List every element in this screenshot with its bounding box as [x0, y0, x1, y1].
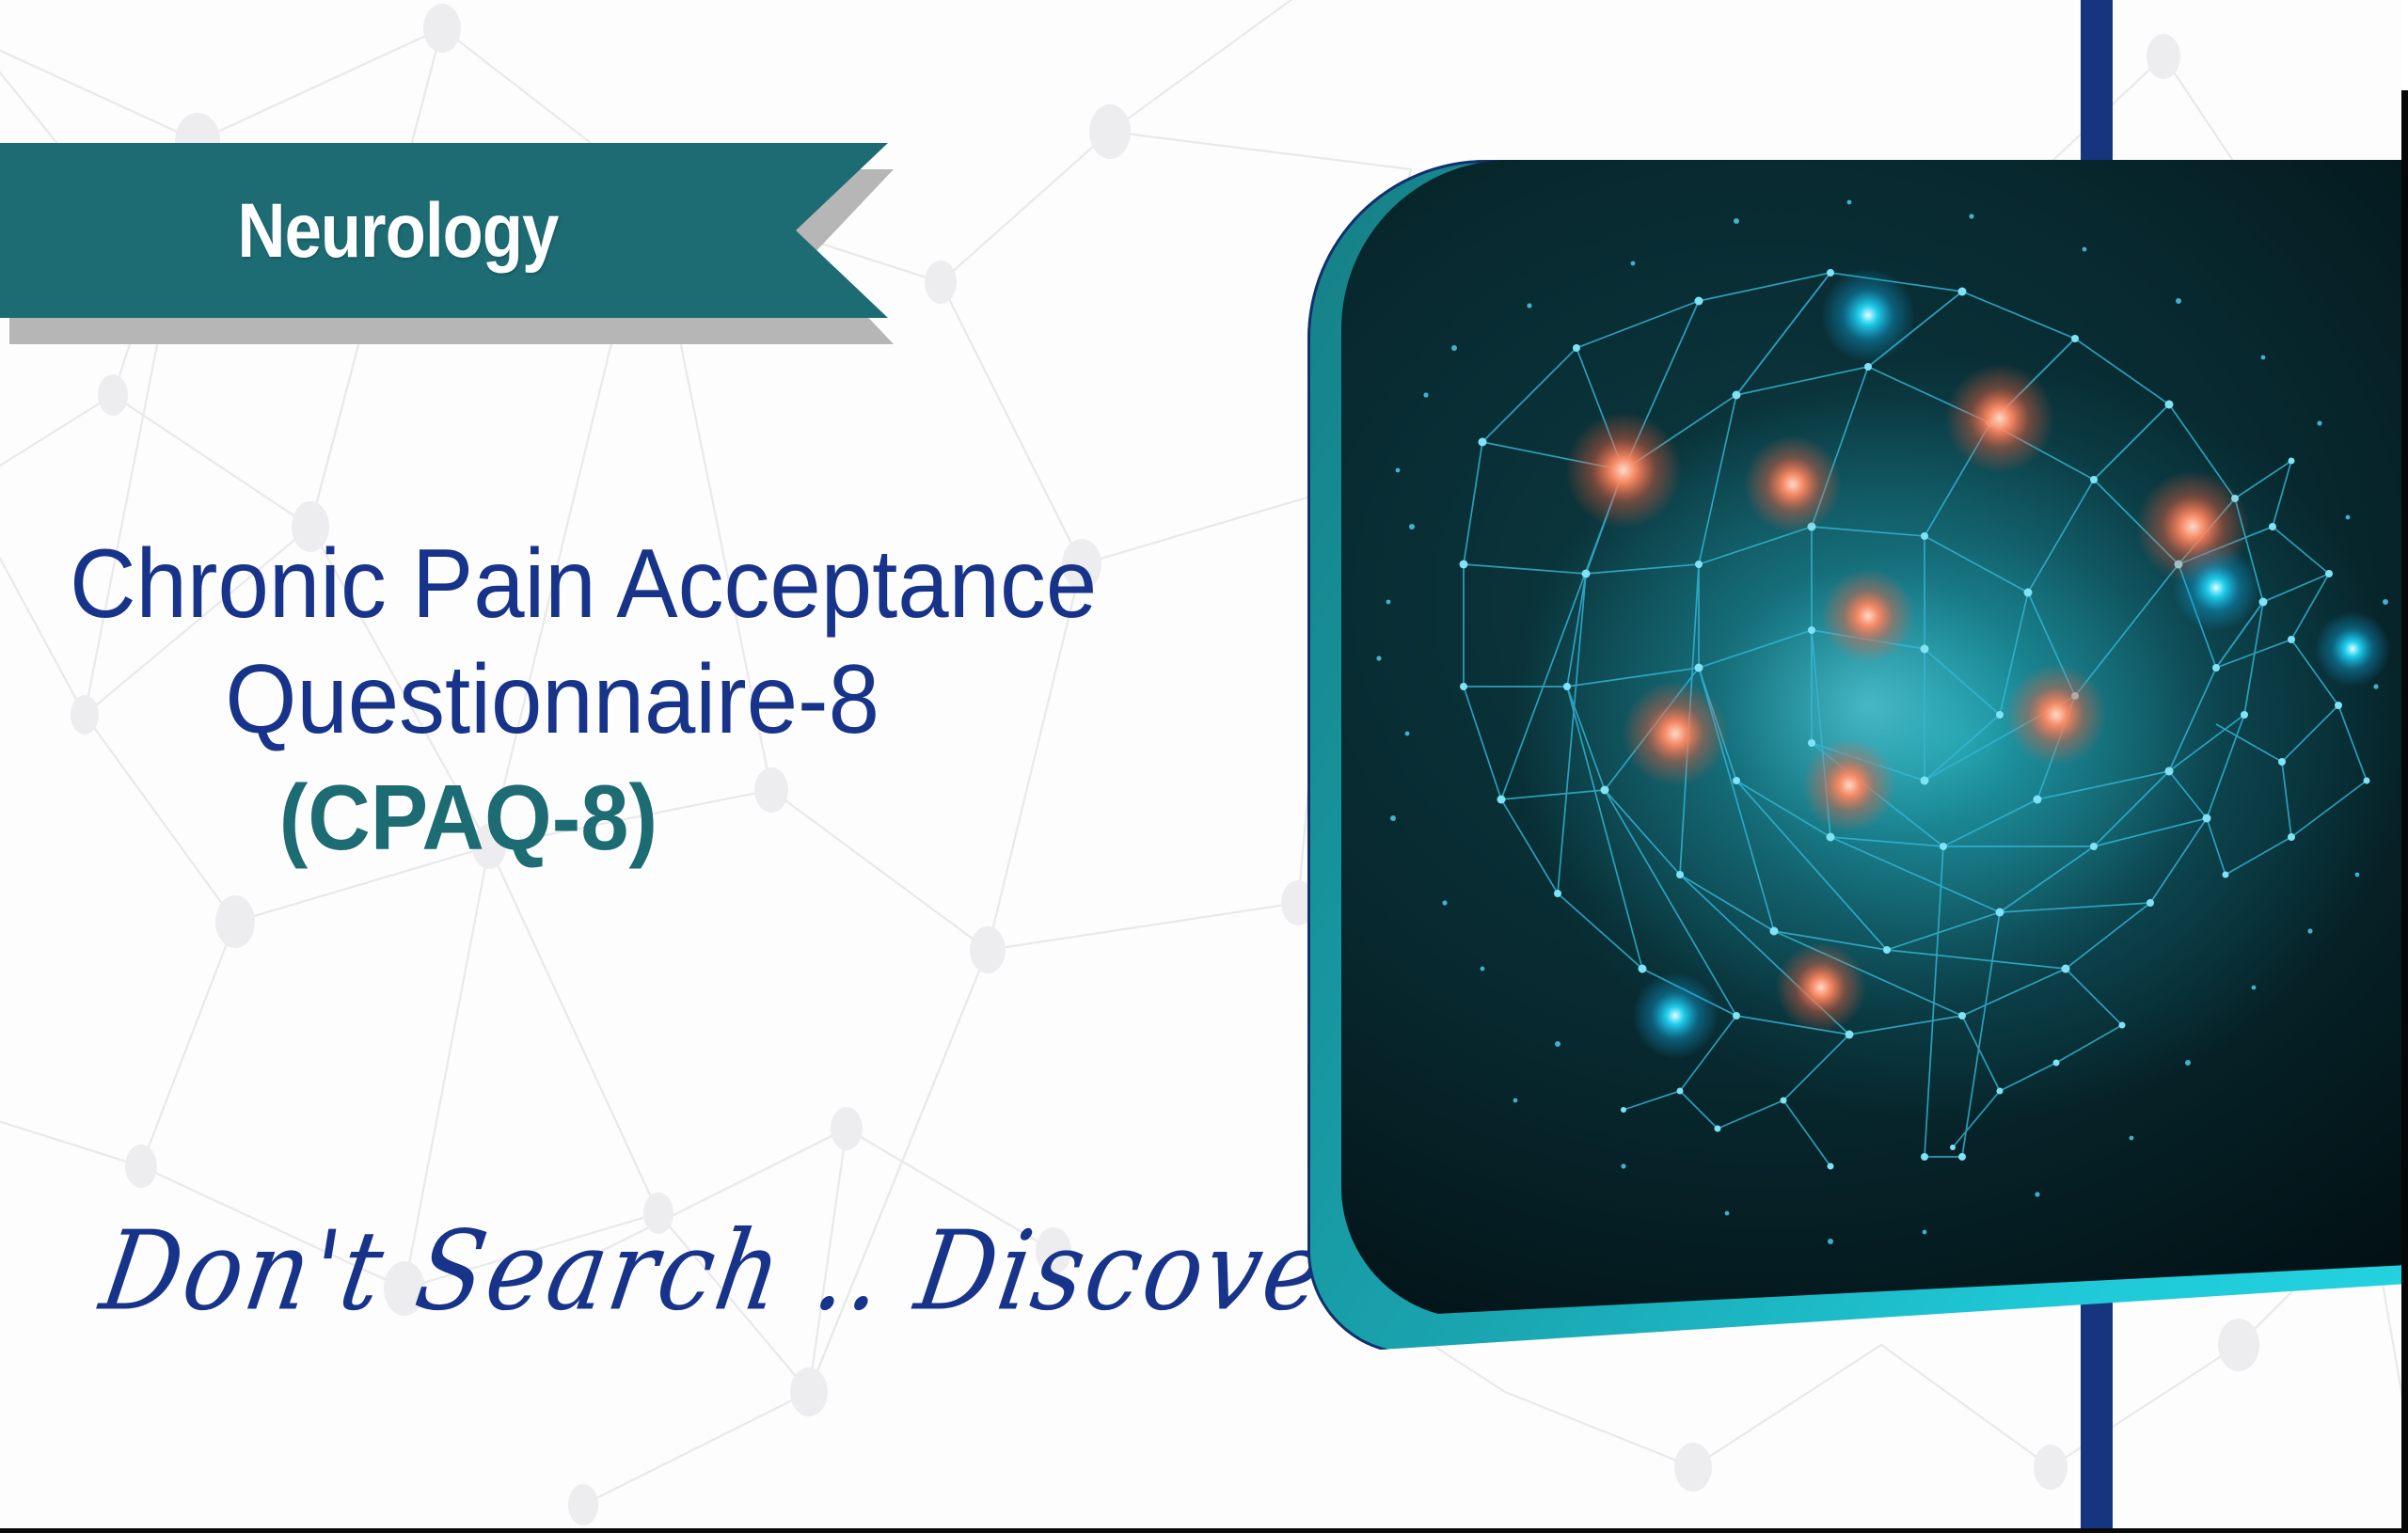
- slide-canvas: Neurology Chronic Pain Acceptance Questi…: [0, 0, 2408, 1533]
- title-line-primary: Chronic Pain Acceptance: [40, 527, 1277, 642]
- ribbon-label: Neurology: [55, 143, 740, 320]
- title-abbreviation: (CPAQ-8): [40, 757, 1277, 878]
- canvas-bottom-edge: [0, 1528, 2408, 1533]
- panel-dark-card: [1341, 160, 2408, 1319]
- category-ribbon: Neurology: [0, 143, 903, 342]
- canvas-right-edge: [2401, 0, 2408, 1533]
- tagline-script: Don't Search .. Discover!: [93, 1207, 1427, 1335]
- title-line-secondary: Questionnaire-8: [40, 642, 1277, 758]
- brain-illustration-panel: [1307, 160, 2408, 1354]
- neural-mesh-graphic: [1341, 160, 2408, 1319]
- title-block: Chronic Pain Acceptance Questionnaire-8 …: [0, 527, 1317, 879]
- canvas-top-right-gap: [2401, 0, 2408, 90]
